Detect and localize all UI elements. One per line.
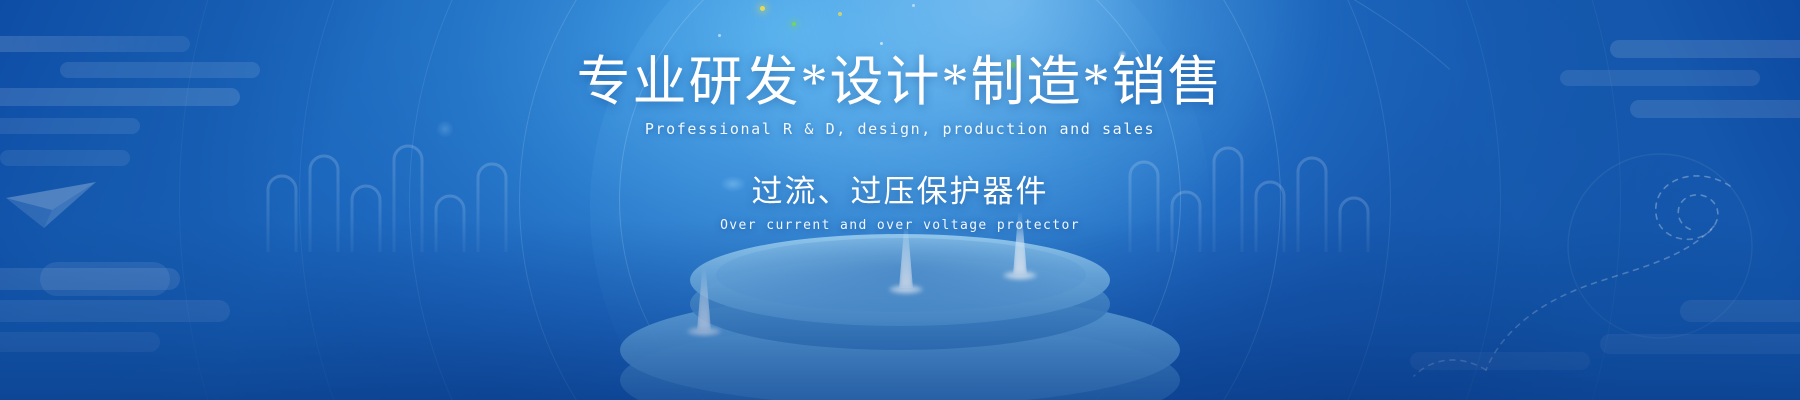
hero-banner: 专业研发*设计*制造*销售 Professional R & D, design… [0, 0, 1800, 400]
subtitle-primary: Professional R & D, design, production a… [0, 120, 1800, 138]
headline-primary: 专业研发*设计*制造*销售 [0, 54, 1800, 111]
subtitle-secondary: Over current and over voltage protector [0, 218, 1800, 233]
headline-secondary: 过流、过压保护器件 [0, 166, 1800, 211]
banner-text-block: 专业研发*设计*制造*销售 Professional R & D, design… [0, 54, 1800, 233]
